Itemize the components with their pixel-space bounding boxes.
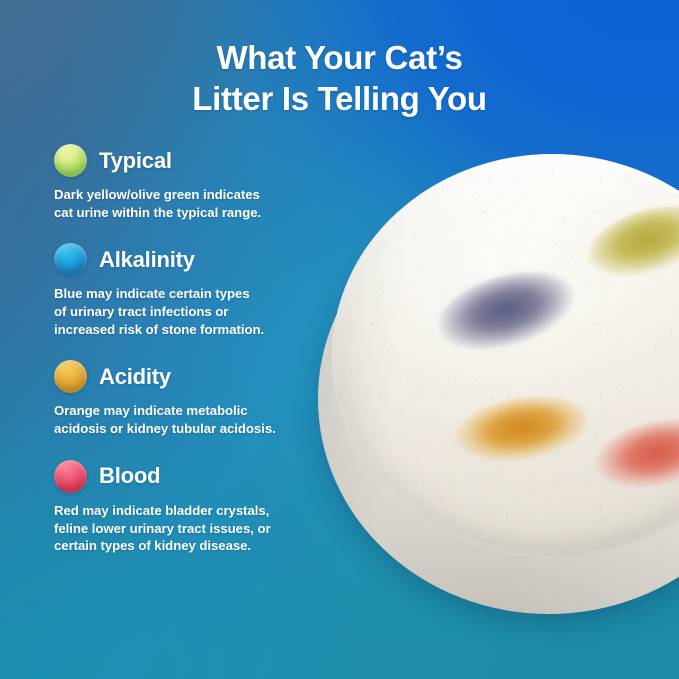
legend-list: Typical Dark yellow/olive green indicate… xyxy=(54,144,344,555)
legend-item-description: Dark yellow/olive green indicates cat ur… xyxy=(54,186,344,221)
legend-item-label: Typical xyxy=(99,150,172,172)
color-dot-icon-typical xyxy=(54,144,87,177)
page-title-line-2: Litter Is Telling You xyxy=(0,79,679,120)
legend-item-description: Orange may indicate metabolic acidosis o… xyxy=(54,402,344,437)
tray-inner-basin xyxy=(332,154,679,558)
legend-item-header: Blood xyxy=(54,460,344,493)
page-title-line-1: What Your Cat’s xyxy=(0,38,679,79)
legend-item-blood: Blood Red may indicate bladder crystals,… xyxy=(54,460,344,555)
color-dot-icon-blood xyxy=(54,460,87,493)
color-dot-icon-alkalinity xyxy=(54,243,87,276)
legend-item-label: Alkalinity xyxy=(99,249,195,271)
legend-item-label: Acidity xyxy=(99,366,171,388)
legend-item-description: Blue may indicate certain types of urina… xyxy=(54,285,344,338)
legend-item-alkalinity: Alkalinity Blue may indicate certain typ… xyxy=(54,243,344,338)
legend-item-typical: Typical Dark yellow/olive green indicate… xyxy=(54,144,344,221)
poster-canvas: What Your Cat’s Litter Is Telling You Ty… xyxy=(0,0,679,679)
legend-item-header: Acidity xyxy=(54,360,344,393)
litter-granule-texture xyxy=(332,154,679,558)
legend-item-header: Typical xyxy=(54,144,344,177)
litter-tray-photo xyxy=(318,126,679,679)
legend-item-description: Red may indicate bladder crystals, felin… xyxy=(54,502,344,555)
legend-item-acidity: Acidity Orange may indicate metabolic ac… xyxy=(54,360,344,437)
legend-item-header: Alkalinity xyxy=(54,243,344,276)
color-dot-icon-acidity xyxy=(54,360,87,393)
page-title: What Your Cat’s Litter Is Telling You xyxy=(0,38,679,120)
legend-item-label: Blood xyxy=(99,465,160,487)
